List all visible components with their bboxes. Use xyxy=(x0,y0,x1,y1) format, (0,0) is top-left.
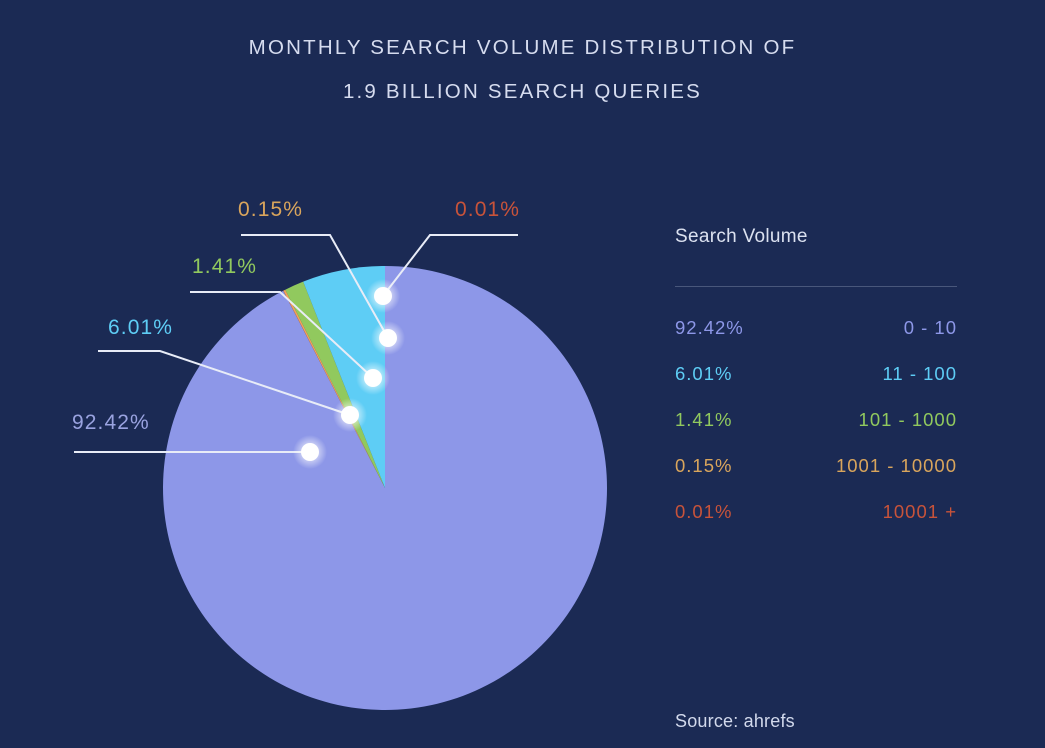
legend-percent: 0.01% xyxy=(675,501,732,523)
legend-percent: 92.42% xyxy=(675,317,744,339)
legend-heading: Search Volume xyxy=(675,226,957,248)
callout-label-92-42: 92.42% xyxy=(72,411,150,435)
legend-row[interactable]: 6.01%11 - 100 xyxy=(675,363,957,385)
legend-range: 101 - 1000 xyxy=(859,409,957,431)
legend-percent: 0.15% xyxy=(675,455,732,477)
legend-rows: 92.42%0 - 106.01%11 - 1001.41%101 - 1000… xyxy=(675,317,957,523)
callout-1-41-dot[interactable] xyxy=(364,369,382,387)
legend-percent: 1.41% xyxy=(675,409,732,431)
callout-6-01-dot[interactable] xyxy=(341,406,359,424)
callout-92-42-dot[interactable] xyxy=(301,443,319,461)
legend-range: 11 - 100 xyxy=(882,363,957,385)
callout-0-15-dot[interactable] xyxy=(379,329,397,347)
legend-range: 1001 - 10000 xyxy=(836,455,957,477)
legend-row[interactable]: 1.41%101 - 1000 xyxy=(675,409,957,431)
legend-row[interactable]: 0.15%1001 - 10000 xyxy=(675,455,957,477)
source-note: Source: ahrefs xyxy=(675,711,795,732)
chart-canvas: MONTHLY SEARCH VOLUME DISTRIBUTION OF 1.… xyxy=(0,0,1045,748)
legend-row[interactable]: 92.42%0 - 10 xyxy=(675,317,957,339)
legend-range: 0 - 10 xyxy=(904,317,957,339)
legend-divider xyxy=(675,286,957,287)
callout-label-0-01: 0.01% xyxy=(455,198,520,222)
callout-0-01-dot[interactable] xyxy=(374,287,392,305)
legend-range: 10001 + xyxy=(883,501,957,523)
legend: Search Volume 92.42%0 - 106.01%11 - 1001… xyxy=(675,226,957,547)
legend-row[interactable]: 0.01%10001 + xyxy=(675,501,957,523)
callout-label-6-01: 6.01% xyxy=(108,316,173,340)
callout-label-1-41: 1.41% xyxy=(192,255,257,279)
legend-percent: 6.01% xyxy=(675,363,732,385)
callout-label-0-15: 0.15% xyxy=(238,198,303,222)
